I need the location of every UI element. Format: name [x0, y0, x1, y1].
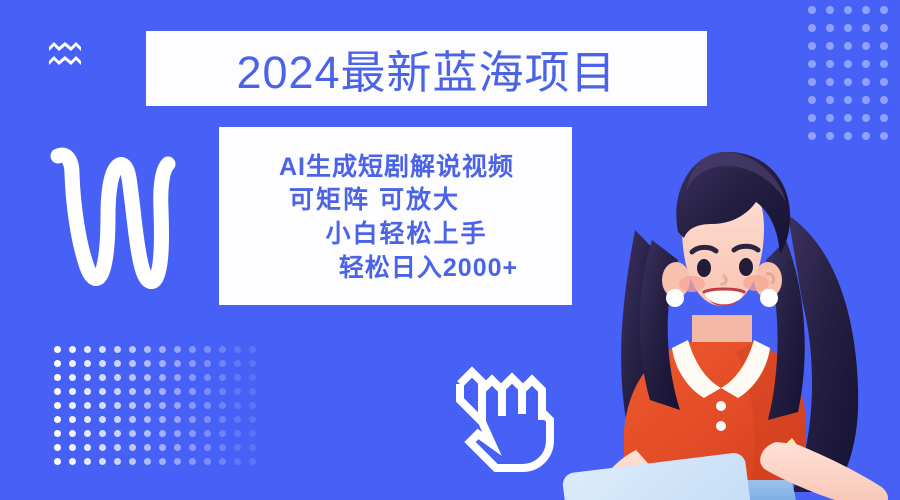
earring [666, 289, 684, 307]
dot [219, 458, 226, 465]
dot [189, 402, 196, 409]
dot [880, 6, 888, 14]
dot [69, 360, 76, 367]
dot [880, 24, 888, 32]
dot [204, 346, 211, 353]
dot [114, 402, 121, 409]
dot [69, 416, 76, 423]
dot [144, 444, 151, 451]
dot [862, 6, 870, 14]
dot [219, 416, 226, 423]
dot [219, 388, 226, 395]
earring [760, 289, 778, 307]
dot [234, 430, 241, 437]
dot [234, 360, 241, 367]
dot [234, 458, 241, 465]
feature-line-2: 可矩阵 可放大 [219, 184, 572, 218]
dot [174, 360, 181, 367]
dot [144, 388, 151, 395]
dot [862, 42, 870, 50]
dot [69, 346, 76, 353]
dot [99, 360, 106, 367]
dot [204, 444, 211, 451]
dot [189, 346, 196, 353]
dot [174, 430, 181, 437]
dot [808, 6, 816, 14]
dot [880, 60, 888, 68]
dot [826, 78, 834, 86]
dot [54, 360, 61, 367]
dot [129, 402, 136, 409]
eye [697, 259, 711, 277]
dot [249, 388, 256, 395]
dot [54, 458, 61, 465]
dot [189, 458, 196, 465]
dot [99, 430, 106, 437]
dot [69, 402, 76, 409]
dot [862, 60, 870, 68]
dot [159, 416, 166, 423]
dot [54, 416, 61, 423]
dot [862, 96, 870, 104]
dot [129, 374, 136, 381]
dot [826, 6, 834, 14]
dot [84, 374, 91, 381]
dot [159, 374, 166, 381]
dot [54, 374, 61, 381]
dot [234, 402, 241, 409]
dot [826, 96, 834, 104]
dot [234, 416, 241, 423]
dot [174, 458, 181, 465]
dot [826, 42, 834, 50]
dot [99, 402, 106, 409]
dot [234, 374, 241, 381]
dot [114, 444, 121, 451]
dot [114, 360, 121, 367]
dot [204, 458, 211, 465]
dot [174, 346, 181, 353]
dot [204, 402, 211, 409]
dot [84, 458, 91, 465]
dot [129, 444, 136, 451]
dot [114, 374, 121, 381]
dot [84, 402, 91, 409]
dot [826, 60, 834, 68]
dot [204, 388, 211, 395]
dot [249, 458, 256, 465]
zigzag-squiggle-icon [38, 138, 178, 298]
dot [844, 78, 852, 86]
dot [862, 78, 870, 86]
dot [880, 78, 888, 86]
dot [99, 444, 106, 451]
dot [69, 444, 76, 451]
dot [129, 360, 136, 367]
dot [159, 444, 166, 451]
dot [249, 430, 256, 437]
dot [129, 458, 136, 465]
dot [99, 374, 106, 381]
dot [808, 60, 816, 68]
dot [84, 416, 91, 423]
dot [84, 346, 91, 353]
dot [204, 374, 211, 381]
dot [129, 346, 136, 353]
dot [862, 24, 870, 32]
dot [99, 346, 106, 353]
dot [204, 416, 211, 423]
dot [159, 402, 166, 409]
dot [144, 346, 151, 353]
dot [159, 346, 166, 353]
dot [84, 430, 91, 437]
dot [808, 24, 816, 32]
dot [114, 388, 121, 395]
feature-list-box: AI生成短剧解说视频 可矩阵 可放大 小白轻松上手 轻松日入2000+ [219, 127, 572, 305]
pointing-hand-cursor-icon [452, 360, 564, 476]
dot [144, 360, 151, 367]
dot [174, 402, 181, 409]
dot [69, 458, 76, 465]
dot [844, 24, 852, 32]
dot [129, 416, 136, 423]
dot [69, 374, 76, 381]
promo-poster: 2024最新蓝海项目 AI生成短剧解说视频 可矩阵 可放大 小白轻松上手 轻松日… [0, 0, 900, 500]
dot [159, 430, 166, 437]
dot [808, 42, 816, 50]
dot [189, 444, 196, 451]
dot [234, 388, 241, 395]
dot [174, 444, 181, 451]
dot [249, 444, 256, 451]
dot [219, 430, 226, 437]
aquarius-wave-icon [48, 40, 82, 68]
dot [144, 458, 151, 465]
dot [219, 374, 226, 381]
dot [826, 24, 834, 32]
dot [54, 388, 61, 395]
dot [234, 346, 241, 353]
dot [159, 458, 166, 465]
dot [54, 402, 61, 409]
dot [249, 416, 256, 423]
dot [84, 388, 91, 395]
dot [144, 430, 151, 437]
dot [808, 78, 816, 86]
title-banner: 2024最新蓝海项目 [146, 31, 707, 106]
dot [844, 42, 852, 50]
dot [99, 388, 106, 395]
dot [99, 416, 106, 423]
dot [84, 444, 91, 451]
dot [204, 360, 211, 367]
dot [249, 360, 256, 367]
shirt-button [716, 421, 726, 431]
dot [189, 416, 196, 423]
dot [84, 360, 91, 367]
dot [159, 388, 166, 395]
dot [189, 360, 196, 367]
page-title: 2024最新蓝海项目 [236, 36, 616, 101]
dot [234, 444, 241, 451]
dot [144, 402, 151, 409]
dot [69, 388, 76, 395]
dot [174, 388, 181, 395]
woman-with-laptop-illustration [540, 120, 900, 500]
dot [144, 374, 151, 381]
dot [54, 444, 61, 451]
dot [219, 360, 226, 367]
dot [249, 346, 256, 353]
dot [144, 416, 151, 423]
dot [159, 360, 166, 367]
dot [114, 416, 121, 423]
dot [844, 6, 852, 14]
dot [219, 402, 226, 409]
dot [174, 416, 181, 423]
dot [129, 388, 136, 395]
dot [808, 96, 816, 104]
dot [189, 430, 196, 437]
dot [54, 346, 61, 353]
dot [219, 444, 226, 451]
dot [114, 346, 121, 353]
dot [844, 96, 852, 104]
dot [189, 374, 196, 381]
feature-line-1: AI生成短剧解说视频 [219, 151, 572, 185]
dot [880, 42, 888, 50]
dot [880, 96, 888, 104]
dot [249, 402, 256, 409]
dot [174, 374, 181, 381]
dot [114, 458, 121, 465]
feature-line-4: 轻松日入2000+ [219, 252, 572, 286]
dot [129, 430, 136, 437]
dot [204, 430, 211, 437]
eye [739, 258, 753, 276]
feature-line-3: 小白轻松上手 [219, 218, 572, 252]
dot [54, 430, 61, 437]
dot-grid-pattern-bottom-left [54, 346, 264, 472]
dot [219, 346, 226, 353]
dot [69, 430, 76, 437]
dot [189, 388, 196, 395]
dot [249, 374, 256, 381]
dot [99, 458, 106, 465]
dot [114, 430, 121, 437]
shirt-button [716, 401, 726, 411]
dot [844, 60, 852, 68]
